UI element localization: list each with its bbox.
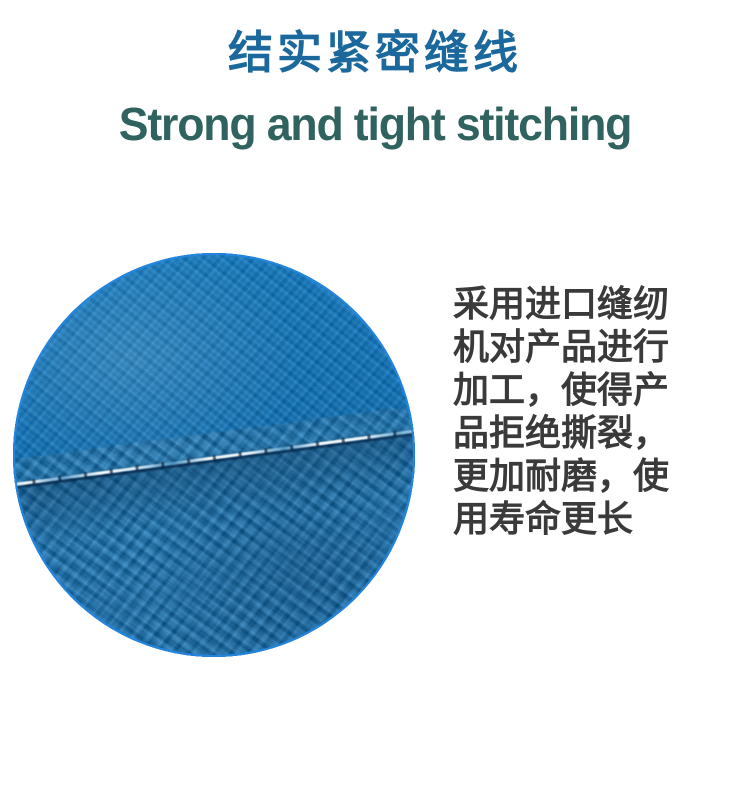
description-line: 机对产品进行 [453, 325, 685, 368]
description-line: 采用进口缝纫 [453, 282, 685, 325]
description-line: 品拒绝撕裂， [453, 411, 685, 454]
description-line: 加工，使得产 [453, 368, 685, 411]
header-section: 结实紧密缝线 Strong and tight stitching [0, 0, 750, 180]
product-photo-circular [13, 253, 415, 657]
description-line: 用寿命更长 [453, 497, 685, 540]
page-subtitle-english: Strong and tight stitching [11, 97, 739, 152]
description-line: 更加耐磨，使 [453, 454, 685, 497]
description-text-block: 采用进口缝纫 机对产品进行 加工，使得产 品拒绝撕裂， 更加耐磨，使 用寿命更长 [453, 282, 685, 540]
page-title-chinese: 结实紧密缝线 [0, 28, 750, 78]
photo-circle-rim [13, 253, 415, 657]
